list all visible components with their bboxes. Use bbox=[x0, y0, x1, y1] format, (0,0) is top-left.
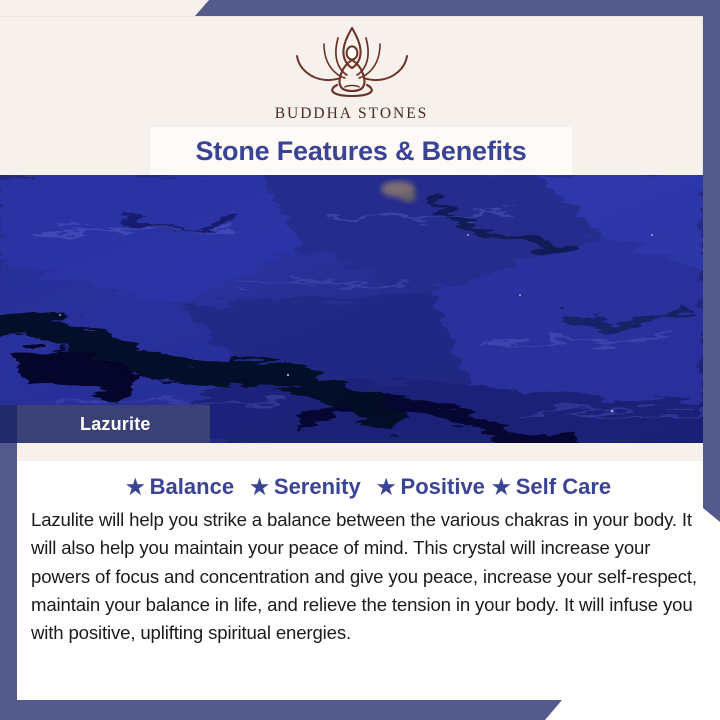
benefit-label: Serenity bbox=[274, 474, 361, 500]
star-icon: ★ bbox=[126, 477, 145, 498]
benefit-item-positive: ★ Positive bbox=[377, 474, 485, 500]
frame-accent-top bbox=[195, 0, 720, 16]
brand-logo: BUDDHA STONES bbox=[0, 22, 703, 123]
stone-features-card: BUDDHA STONES Stone Features & Benefits bbox=[0, 0, 720, 720]
stone-texture bbox=[0, 175, 703, 443]
title-banner: Stone Features & Benefits bbox=[150, 127, 572, 175]
frame-accent-bottom bbox=[0, 700, 562, 720]
lazurite-stone-photo bbox=[0, 175, 703, 443]
benefit-label: Balance bbox=[150, 474, 234, 500]
header-panel: BUDDHA STONES Stone Features & Benefits bbox=[0, 0, 703, 175]
benefit-label: Self Care bbox=[516, 474, 611, 500]
frame-accent-right bbox=[703, 0, 720, 522]
frame-accent-left bbox=[0, 443, 17, 703]
star-icon: ★ bbox=[377, 477, 396, 498]
photo-under-strip bbox=[17, 443, 703, 461]
benefit-item-serenity: ★ Serenity bbox=[250, 474, 361, 500]
stone-description: Lazulite will help you strike a balance … bbox=[31, 506, 706, 647]
benefit-item-self-care: ★ Self Care bbox=[492, 474, 611, 500]
stone-name-label: Lazurite bbox=[17, 414, 151, 435]
star-icon: ★ bbox=[250, 477, 269, 498]
badge-left-cap bbox=[0, 405, 17, 443]
benefits-list: ★ Balance ★ Serenity ★ Positive ★ Self C… bbox=[31, 474, 706, 500]
page-title: Stone Features & Benefits bbox=[195, 136, 526, 167]
content-panel: ★ Balance ★ Serenity ★ Positive ★ Self C… bbox=[17, 461, 720, 700]
benefit-label: Positive bbox=[401, 474, 485, 500]
benefit-item-balance: ★ Balance bbox=[126, 474, 234, 500]
star-icon: ★ bbox=[492, 477, 511, 498]
brand-name: BUDDHA STONES bbox=[275, 105, 429, 123]
lotus-meditation-icon bbox=[277, 22, 427, 98]
stone-name-badge: Lazurite bbox=[17, 405, 210, 443]
